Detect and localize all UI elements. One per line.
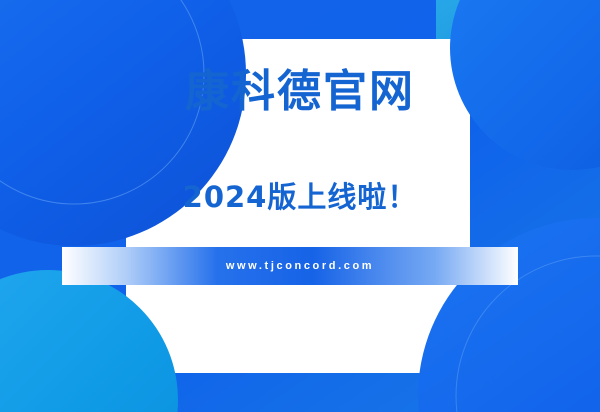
card-overlap-shapes [0, 0, 600, 412]
url-band [62, 247, 518, 285]
promo-banner: 康科德官网 2024版上线啦！ www.tjconcord.com [0, 0, 600, 412]
